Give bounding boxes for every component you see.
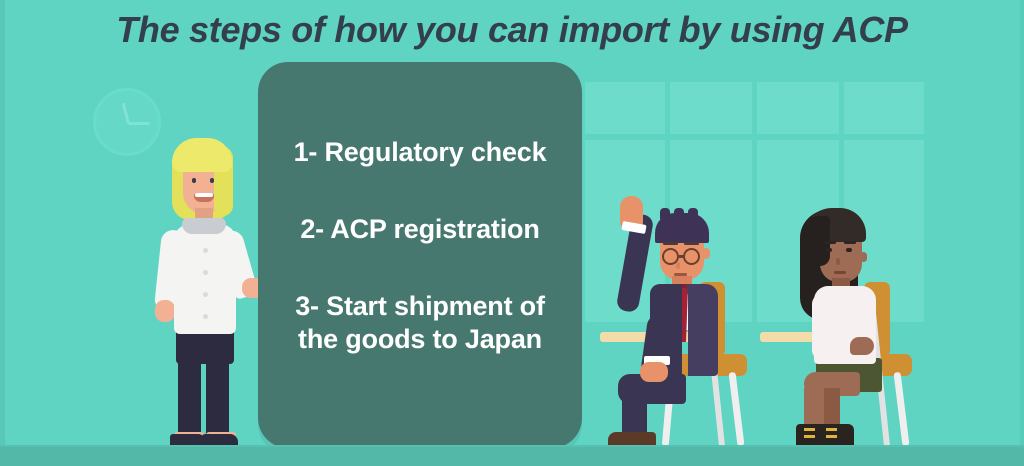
blouse-button <box>203 270 208 275</box>
presenter-hair-front <box>172 138 232 172</box>
man-hand <box>640 362 668 382</box>
step-item-2: 2- ACP registration <box>273 213 567 246</box>
woman-hand <box>850 337 874 355</box>
window-pane <box>670 82 752 134</box>
window-pane <box>844 82 924 134</box>
presenter-teeth <box>195 193 213 197</box>
man-glasses-bridge <box>679 255 685 258</box>
presenter-collar <box>182 218 226 234</box>
window-pane <box>585 82 665 134</box>
window-pane <box>757 82 839 134</box>
steps-list: 1- Regulatory check 2- ACP registration … <box>258 136 582 356</box>
boot-lace <box>826 428 837 431</box>
woman-eyebrow <box>824 241 836 244</box>
presenter-leg <box>206 358 229 442</box>
left-edge-strip <box>0 0 5 466</box>
clock-minute-hand <box>128 122 150 125</box>
illustration-slide: 1- Regulatory check 2- ACP registration … <box>0 0 1024 466</box>
woman-eyebrow <box>844 241 856 244</box>
presenter-left-hand <box>155 300 175 322</box>
man-eyebrow <box>663 242 678 245</box>
boot-lace <box>826 435 837 438</box>
blouse-button <box>203 292 208 297</box>
presenter-eye <box>210 178 214 183</box>
floor-band <box>0 447 1024 466</box>
character-student-woman <box>778 196 918 448</box>
character-student-man <box>600 196 750 448</box>
step-item-3: 3- Start shipment of the goods to Japan <box>273 290 567 356</box>
boot-lace <box>804 435 815 438</box>
woman-mouth <box>834 271 846 274</box>
character-presenter-woman <box>150 138 270 448</box>
blouse-button <box>203 248 208 253</box>
man-hair <box>655 213 709 243</box>
man-glasses-lens <box>683 248 700 265</box>
presenter-leg <box>178 358 201 442</box>
steps-panel: 1- Regulatory check 2- ACP registration … <box>258 62 582 448</box>
woman-eye <box>846 248 852 252</box>
blouse-button <box>203 314 208 319</box>
slide-title: The steps of how you can import by using… <box>0 9 1024 51</box>
woman-nose <box>836 258 840 265</box>
boot-lace <box>804 428 815 431</box>
right-edge-strip <box>1020 0 1024 466</box>
step-item-1: 1- Regulatory check <box>273 136 567 169</box>
presenter-eye <box>192 178 196 183</box>
man-nose <box>676 262 680 269</box>
man-eyebrow <box>684 242 699 245</box>
woman-eye <box>826 248 832 252</box>
